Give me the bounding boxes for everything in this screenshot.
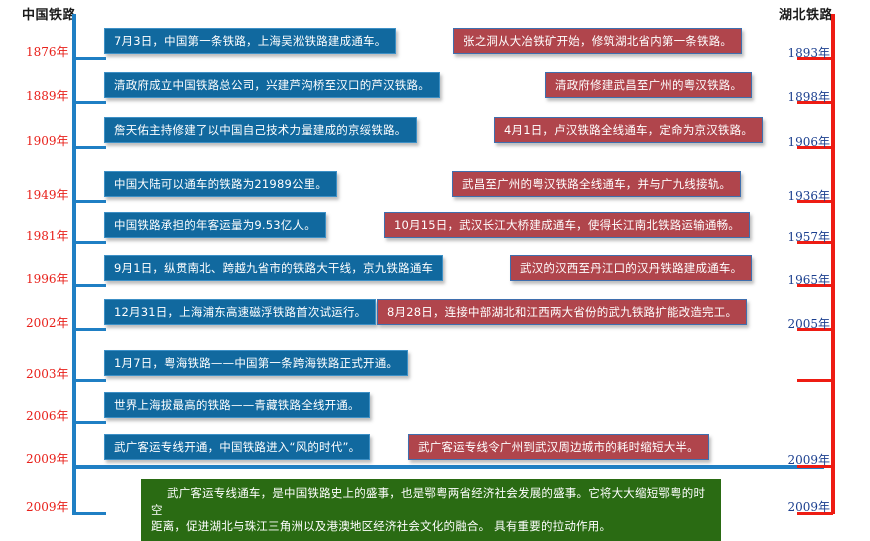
left-year-label: 2003年 [26, 365, 69, 382]
left-event-box[interactable]: 1月7日，粤海铁路——中国第一条跨海铁路正式开通。 [104, 350, 408, 376]
timeline-infographic: 中国铁路 湖北铁路 1876年 7月3日，中国第一条铁路，上海吴淞铁路建成通车。… [0, 0, 870, 530]
left-event-box[interactable]: 武广客运专线开通，中国铁路进入“风的时代”。 [104, 434, 370, 460]
right-year-label: 2009年 [787, 498, 830, 515]
right-year-label: 2009年 [787, 451, 830, 468]
left-event-box[interactable]: 詹天佑主持修建了以中国自己技术力量建成的京绥铁路。 [104, 117, 417, 143]
right-year-label: 2005年 [787, 315, 830, 332]
left-event-box[interactable]: 清政府成立中国铁路总公司，兴建芦沟桥至汉口的芦汉铁路。 [104, 72, 440, 98]
left-year-label: 1909年 [26, 132, 69, 149]
left-tick [72, 328, 106, 331]
left-timeline-axis [72, 14, 76, 514]
right-event-box[interactable]: 武昌至广州的粤汉铁路全线通车，并与广九线接轨。 [452, 171, 741, 197]
left-tick [72, 57, 106, 60]
left-year-label: 1981年 [26, 227, 69, 244]
left-tick [72, 284, 106, 287]
left-year-label: 2009年 [26, 498, 69, 515]
left-event-box[interactable]: 中国大陆可以通车的铁路为21989公里。 [104, 171, 337, 197]
summary-line-2: 距离，促进湖北与珠江三角洲以及港澳地区经济社会文化的融合。 具有重要的拉动作用。 [151, 518, 711, 535]
right-event-box[interactable]: 武广客运专线令广州到武汉周边城市的耗时缩短大半。 [408, 434, 709, 460]
left-event-box[interactable]: 9月1日，纵贯南北、跨越九省市的铁路大干线，京九铁路通车 [104, 255, 443, 281]
left-tick [72, 241, 106, 244]
right-event-box[interactable]: 4月1日，卢汉铁路全线通车，定命为京汉铁路。 [494, 117, 763, 143]
left-tick [72, 512, 106, 515]
left-timeline-header: 中国铁路 [22, 4, 76, 23]
left-year-label: 1889年 [26, 87, 69, 104]
left-tick [72, 421, 106, 424]
right-event-box[interactable]: 清政府修建武昌至广州的粤汉铁路。 [545, 72, 752, 98]
left-tick [72, 465, 824, 469]
right-event-box[interactable]: 10月15日，武汉长江大桥建成通车，使得长江南北铁路运输通畅。 [384, 212, 750, 238]
left-tick [72, 101, 106, 104]
left-year-label: 2006年 [26, 407, 69, 424]
right-year-label: 1893年 [787, 44, 830, 61]
left-event-box[interactable]: 7月3日，中国第一条铁路，上海吴淞铁路建成通车。 [104, 28, 396, 54]
left-event-box[interactable]: 世界上海拔最高的铁路——青藏铁路全线开通。 [104, 392, 370, 418]
left-year-label: 1996年 [26, 270, 69, 287]
right-year-label: 1898年 [787, 88, 830, 105]
summary-box: 武广客运专线通车，是中国铁路史上的盛事，也是鄂粤两省经济社会发展的盛事。它将大大… [141, 479, 721, 541]
left-tick [72, 200, 106, 203]
right-tick [797, 379, 833, 382]
right-event-box[interactable]: 武汉的汉西至丹江口的汉丹铁路建成通车。 [510, 255, 752, 281]
right-year-label: 1965年 [787, 271, 830, 288]
left-year-label: 1949年 [26, 186, 69, 203]
right-event-box[interactable]: 张之洞从大冶铁矿开始，修筑湖北省内第一条铁路。 [453, 28, 742, 54]
right-event-box[interactable]: 8月28日，连接中部湖北和江西两大省份的武九铁路扩能改造完工。 [377, 299, 747, 325]
left-tick [72, 146, 106, 149]
left-year-label: 1876年 [26, 43, 69, 60]
left-event-box[interactable]: 中国铁路承担的年客运量为9.53亿人。 [104, 212, 326, 238]
left-year-label: 2009年 [26, 450, 69, 467]
left-year-label: 2002年 [26, 314, 69, 331]
right-year-label: 1936年 [787, 187, 830, 204]
left-tick [72, 379, 106, 382]
right-year-label: 1957年 [787, 228, 830, 245]
left-event-box[interactable]: 12月31日，上海浦东高速磁浮铁路首次试运行。 [104, 299, 376, 325]
right-timeline-axis [831, 14, 835, 514]
summary-line-1: 武广客运专线通车，是中国铁路史上的盛事，也是鄂粤两省经济社会发展的盛事。它将大大… [151, 486, 705, 517]
right-timeline-header: 湖北铁路 [779, 4, 833, 23]
right-year-label: 1906年 [787, 133, 830, 150]
